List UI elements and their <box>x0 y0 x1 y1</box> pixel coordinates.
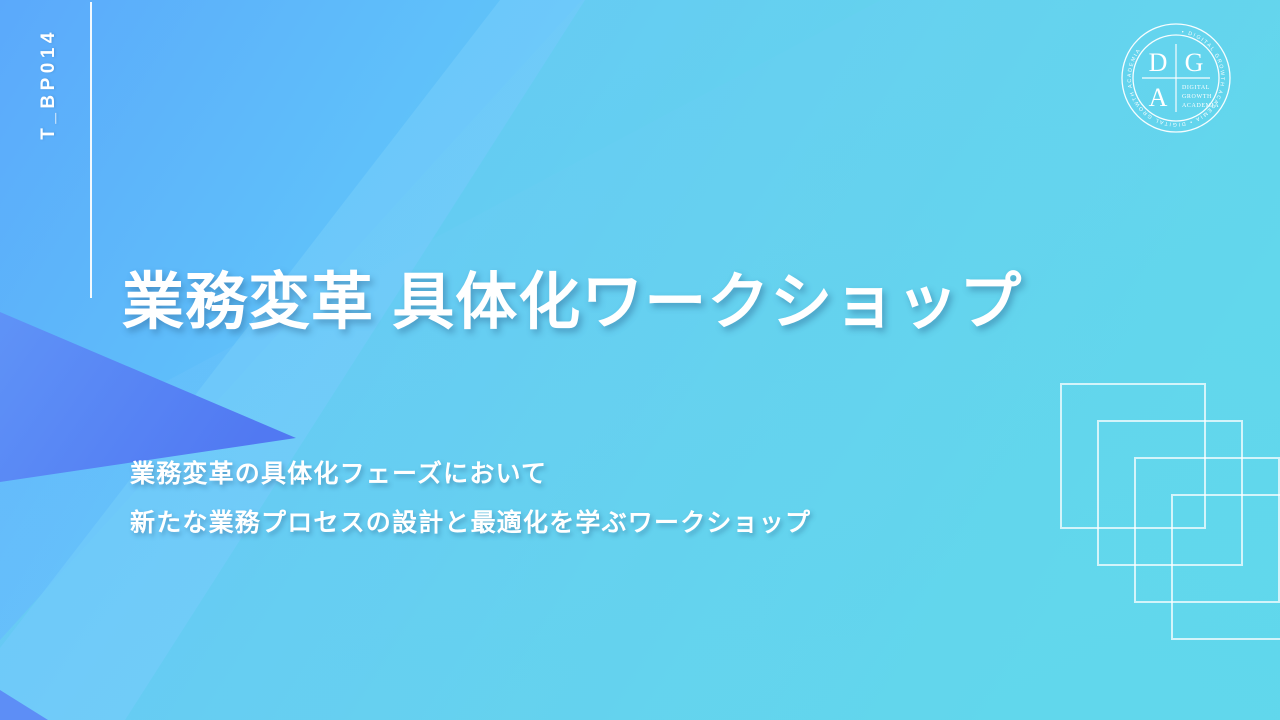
page-title: 業務変革 具体化ワークショップ <box>122 268 1022 337</box>
slide-root: T_BP014 業務変革 具体化ワークショップ 業務変革の具体化フェーズにおいて… <box>0 0 1280 720</box>
logo-letter-d: D <box>1149 48 1168 77</box>
side-divider-rule <box>90 2 92 298</box>
dga-logo-svg: • DIGITAL GROWTH ACADEMIA • DIGITAL GROW… <box>1120 22 1232 134</box>
logo-caption-line3: ACADEMIA <box>1182 103 1219 109</box>
slide-code-text: T_BP014 <box>39 28 58 140</box>
logo-letter-g: G <box>1185 48 1204 77</box>
dga-logo: • DIGITAL GROWTH ACADEMIA • DIGITAL GROW… <box>1120 22 1232 134</box>
logo-caption-line2: GROWTH <box>1182 94 1212 100</box>
slide-code-label: T_BP014 <box>28 28 68 208</box>
logo-letter-a: A <box>1149 83 1168 112</box>
background-shapes <box>0 0 1280 720</box>
page-subtitle: 業務変革の具体化フェーズにおいて 新たな業務プロセスの設計と最適化を学ぶワークシ… <box>130 450 811 548</box>
logo-caption-line1: DIGITAL <box>1182 85 1210 91</box>
